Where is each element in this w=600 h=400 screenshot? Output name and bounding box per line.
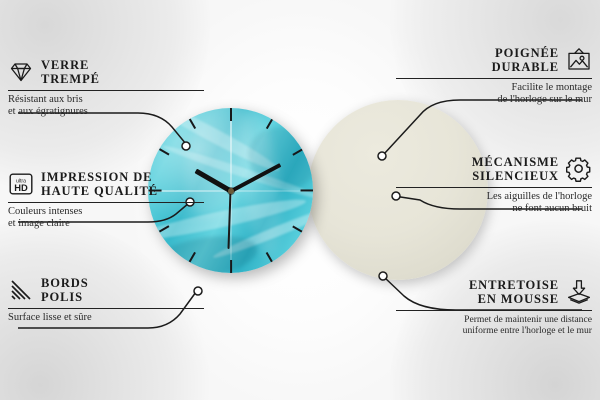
feature-header: MÉCANISME SILENCIEUX (396, 155, 592, 183)
clock-tick (230, 260, 232, 273)
feature-divider (8, 90, 204, 91)
feature-title: POIGNÉE DURABLE (492, 46, 559, 74)
feature-header: ultra HD IMPRESSION DE HAUTE QUALITÉ (8, 170, 204, 198)
feature-verre-trempe: VERRE TREMPÉ Résistant aux bris et aux é… (8, 58, 204, 119)
feature-description: Facilite le montage de l'horloge sur le … (396, 82, 592, 107)
feature-divider (396, 310, 592, 311)
clock-tick (300, 189, 313, 191)
feature-header: VERRE TREMPÉ (8, 58, 204, 86)
polished-edge-icon (8, 277, 34, 303)
feature-divider (396, 187, 592, 188)
foam-spacer-icon (566, 279, 592, 305)
feature-mecanisme-silencieux: MÉCANISME SILENCIEUX Les aiguilles de l'… (396, 155, 592, 216)
infographic-canvas: VERRE TREMPÉ Résistant aux bris et aux é… (0, 0, 600, 400)
feature-header: BORDS POLIS (8, 276, 204, 304)
feature-divider (396, 78, 592, 79)
feature-entretoise-en-mousse: ENTRETOISE EN MOUSSE Permet de maintenir… (396, 278, 592, 337)
diamond-icon (8, 59, 34, 85)
feature-description: Résistant aux bris et aux égratignures (8, 94, 204, 119)
feature-header: ENTRETOISE EN MOUSSE (396, 278, 592, 306)
feature-divider (8, 202, 204, 203)
ultra-hd-badge-icon: ultra HD (8, 171, 34, 197)
feature-title: VERRE TREMPÉ (41, 58, 100, 86)
feature-description: Permet de maintenir une distance uniform… (396, 314, 592, 337)
feature-bords-polis: BORDS POLIS Surface lisse et sûre (8, 276, 204, 324)
feature-title: ENTRETOISE EN MOUSSE (469, 278, 559, 306)
hanging-frame-icon (566, 47, 592, 73)
gear-icon (566, 156, 592, 182)
feature-title: IMPRESSION DE HAUTE QUALITÉ (41, 170, 158, 198)
feature-description: Couleurs intenses et image claire (8, 206, 204, 231)
feature-divider (8, 308, 204, 309)
feature-description: Les aiguilles de l'horloge ne font aucun… (396, 191, 592, 216)
feature-header: POIGNÉE DURABLE (396, 46, 592, 74)
feature-impression-haute-qualite: ultra HD IMPRESSION DE HAUTE QUALITÉ Cou… (8, 170, 204, 231)
feature-title: MÉCANISME SILENCIEUX (472, 155, 559, 183)
clock-tick (230, 108, 232, 121)
feature-description: Surface lisse et sûre (8, 312, 204, 324)
feature-poignee-durable: POIGNÉE DURABLE Facilite le montage de l… (396, 46, 592, 107)
svg-text:HD: HD (14, 182, 28, 193)
feature-title: BORDS POLIS (41, 276, 89, 304)
clock-center-cap (228, 188, 234, 194)
